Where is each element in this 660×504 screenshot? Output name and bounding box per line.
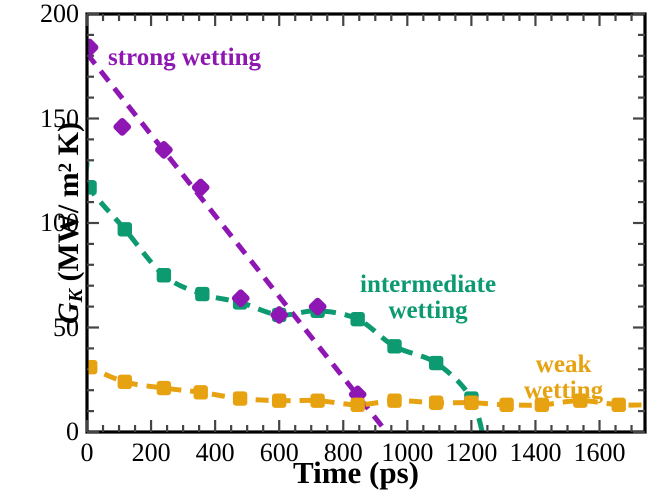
x-tick-label: 1400 [509, 440, 561, 466]
data-point [191, 177, 211, 197]
annotation-intermediate-line1: intermediate [360, 271, 496, 298]
data-point [272, 393, 286, 407]
data-point [499, 398, 513, 412]
annotation-strong-wetting: strong wetting [108, 45, 261, 71]
data-point [112, 117, 132, 137]
y-tick-label: 0 [0, 419, 79, 445]
x-tick-label: 600 [260, 440, 299, 466]
data-point [233, 391, 247, 405]
series-strong-wetting [87, 54, 387, 432]
data-point [118, 222, 132, 236]
data-point [612, 398, 626, 412]
chart-figure: GK (MW/ m2 K) Time (ps) strong wetting i… [0, 0, 660, 504]
x-tick-label: 800 [324, 440, 363, 466]
data-point [118, 375, 132, 389]
y-tick-label: 150 [0, 106, 79, 132]
x-tick-label: 1200 [445, 440, 497, 466]
data-point [350, 398, 364, 412]
data-point [195, 287, 209, 301]
y-tick-label: 200 [0, 1, 79, 27]
fit-line-strong [87, 54, 387, 432]
x-tick-label: 200 [132, 440, 171, 466]
data-point [194, 385, 208, 399]
data-point [429, 356, 443, 370]
data-point [269, 305, 289, 325]
x-tick-label: 400 [196, 440, 235, 466]
annotation-intermediate-wetting: intermediatewetting [360, 272, 496, 323]
annotation-weak-line2: wetting [524, 377, 603, 404]
plot-canvas [0, 0, 660, 504]
data-point [157, 381, 171, 395]
x-tick-label: 1600 [574, 440, 626, 466]
x-tick-label: 0 [81, 440, 94, 466]
y-tick-label: 50 [0, 315, 79, 341]
data-point [310, 393, 324, 407]
annotation-intermediate-line2: wetting [388, 297, 467, 324]
x-tick-label: 1000 [381, 440, 433, 466]
markers-strong-wetting [79, 37, 367, 404]
data-point [387, 339, 401, 353]
data-point [387, 393, 401, 407]
annotation-weak-line1: weak [536, 351, 592, 378]
annotation-weak-wetting: weakwetting [524, 352, 603, 403]
data-point [429, 396, 443, 410]
y-tick-label: 100 [0, 210, 79, 236]
data-point [157, 268, 171, 282]
data-point [464, 396, 478, 410]
